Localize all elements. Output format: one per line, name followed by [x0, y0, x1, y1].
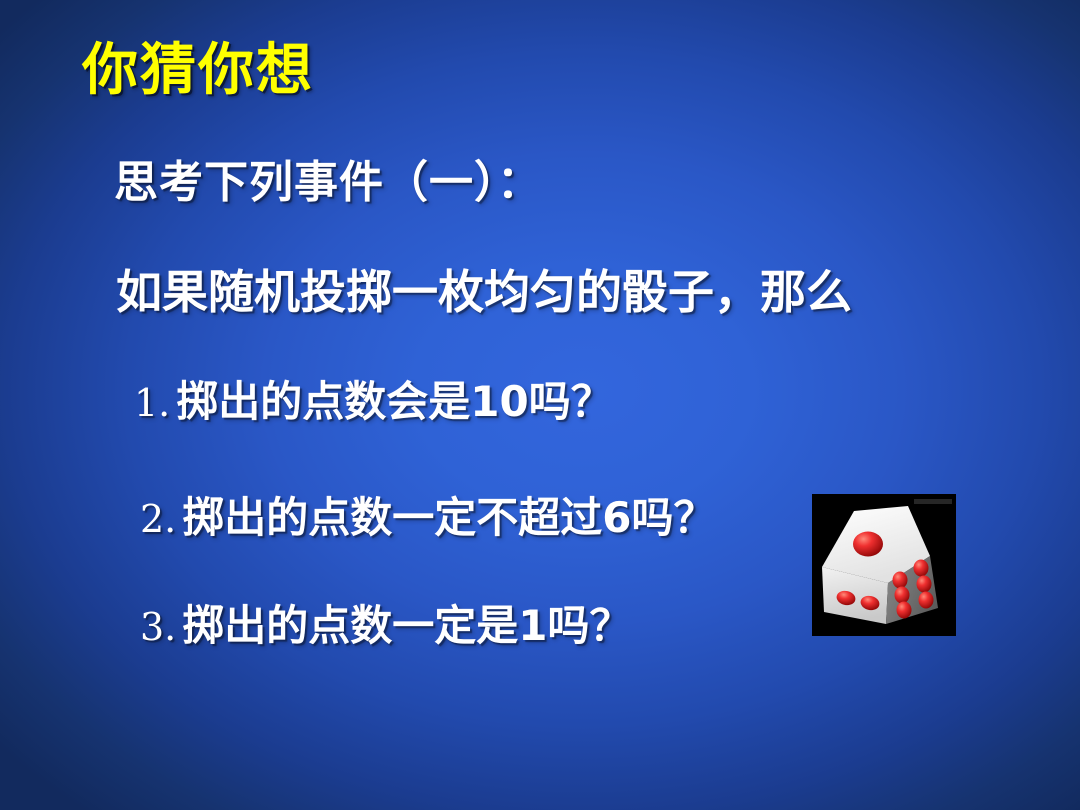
dice-illustration [812, 494, 956, 636]
question-text-3: 掷出的点数一定是1吗？ [182, 601, 631, 650]
slide-title: 你猜你想 [82, 42, 314, 101]
question-number-3: 3. [140, 605, 182, 649]
question-item-3: 3.掷出的点数一定是1吗？ [140, 592, 632, 653]
question-number-2: 2. [140, 497, 182, 541]
question-text-2: 掷出的点数一定不超过6吗？ [182, 493, 715, 542]
question-item-1: 1.掷出的点数会是10吗？ [134, 368, 613, 429]
presentation-slide: 你猜你想 思考下列事件（一）： 如果随机投掷一枚均匀的骰子，那么 1.掷出的点数… [0, 0, 1080, 810]
question-text-1: 掷出的点数会是10吗？ [176, 377, 612, 426]
question-number-1: 1. [134, 381, 176, 425]
premise-line: 如果随机投掷一枚均匀的骰子，那么 [116, 256, 852, 322]
dice-image [812, 494, 956, 636]
question-item-2: 2.掷出的点数一定不超过6吗？ [140, 484, 716, 545]
intro-line: 思考下列事件（一）： [114, 146, 542, 210]
